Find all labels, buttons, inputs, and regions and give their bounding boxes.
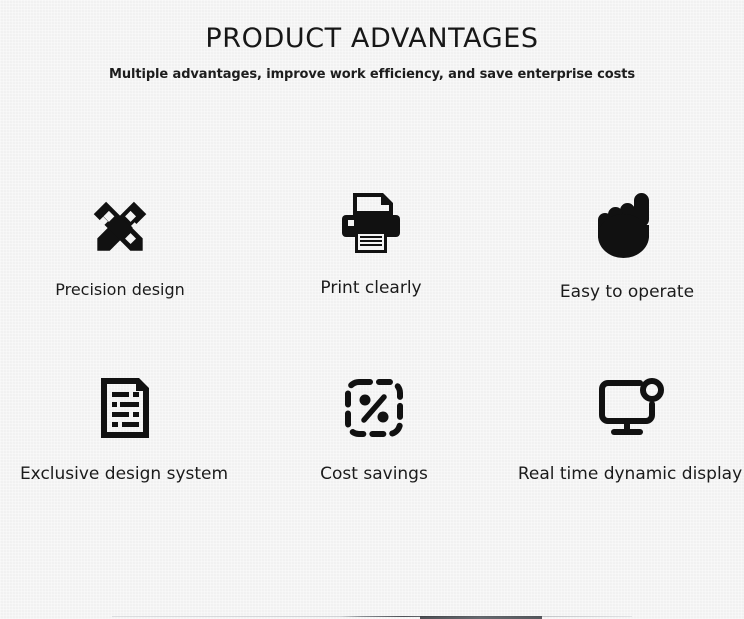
advantage-item-print-clearly: Print clearly (247, 160, 495, 350)
product-advantages-page: PRODUCT ADVANTAGES Multiple advantages, … (0, 0, 744, 619)
advantage-item-easy-to-operate: Easy to operate (503, 160, 744, 350)
monitor-record-icon (596, 370, 664, 446)
page-header: PRODUCT ADVANTAGES Multiple advantages, … (0, 0, 744, 83)
page-title: PRODUCT ADVANTAGES (0, 22, 744, 56)
next-section-edge-line (112, 616, 632, 617)
advantage-item-real-time-dynamic-display: Real time dynamic display (506, 350, 744, 500)
printer-icon (339, 186, 403, 262)
advantage-label: Cost savings (320, 464, 428, 484)
page-subtitle: Multiple advantages, improve work effici… (0, 66, 744, 83)
next-section-sliver (0, 612, 744, 619)
advantage-label: Exclusive design system (20, 464, 228, 484)
advantages-row-2: Exclusive design system (0, 350, 744, 500)
advantage-item-exclusive-design-system: Exclusive design system (0, 350, 248, 500)
advantage-item-precision-design: Precision design (0, 160, 244, 350)
advantages-grid: Precision design (0, 160, 744, 500)
advantage-item-cost-savings: Cost savings (250, 350, 498, 500)
advantage-label: Easy to operate (560, 282, 694, 302)
advantage-label: Print clearly (320, 278, 421, 298)
percent-discount-icon (343, 370, 405, 446)
advantage-label: Real time dynamic display (518, 464, 742, 484)
design-tools-icon (87, 190, 153, 266)
hand-pointing-icon (596, 188, 658, 264)
advantages-row-1: Precision design (0, 160, 744, 350)
advantage-label: Precision design (55, 280, 185, 300)
document-form-icon (95, 370, 153, 446)
